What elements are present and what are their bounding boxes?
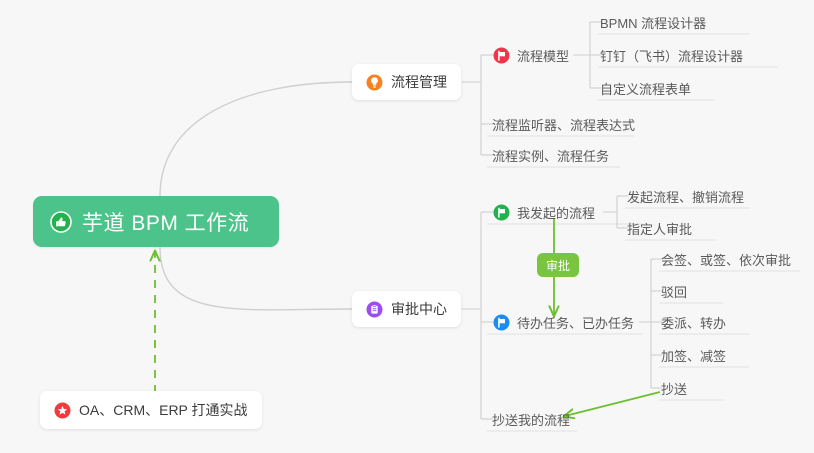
node-start-cancel-process-label: 发起流程、撤销流程 <box>627 187 744 206</box>
root-node[interactable]: 芋道 BPM 工作流 <box>33 196 279 247</box>
note-integration-label: OA、CRM、ERP 打通实战 <box>79 400 248 420</box>
node-cc[interactable]: 抄送 <box>661 379 687 398</box>
node-add-remove-sign[interactable]: 加签、减签 <box>661 346 726 365</box>
node-process-model[interactable]: 流程模型 <box>493 46 569 65</box>
link-ac-spine <box>462 212 481 419</box>
root-label: 芋道 BPM 工作流 <box>82 207 249 237</box>
node-bpmn-designer[interactable]: BPMN 流程设计器 <box>600 13 706 32</box>
node-add-remove-sign-label: 加签、减签 <box>661 346 726 365</box>
node-my-started-process-label: 我发起的流程 <box>517 203 595 222</box>
star-icon <box>54 402 71 419</box>
approval-badge[interactable]: 审批 <box>537 253 579 277</box>
approval-badge-label: 审批 <box>546 257 570 274</box>
node-approval-center[interactable]: 审批中心 <box>352 291 461 327</box>
node-process-management[interactable]: 流程管理 <box>352 64 461 100</box>
link-todo-spine <box>639 259 651 388</box>
node-assignee-approval-label: 指定人审批 <box>627 219 692 238</box>
node-todo-done-tasks[interactable]: 待办任务、已办任务 <box>493 313 634 332</box>
node-cc-to-me-label: 抄送我的流程 <box>492 410 570 429</box>
flag-green-icon <box>493 204 510 221</box>
node-delegate-transfer[interactable]: 委派、转办 <box>661 313 726 332</box>
note-integration[interactable]: OA、CRM、ERP 打通实战 <box>40 391 262 429</box>
link-model-spine <box>573 22 590 88</box>
node-instance-task[interactable]: 流程实例、流程任务 <box>492 146 609 165</box>
node-start-cancel-process[interactable]: 发起流程、撤销流程 <box>627 187 744 206</box>
node-approval-center-label: 审批中心 <box>391 299 447 319</box>
node-bpmn-designer-label: BPMN 流程设计器 <box>600 13 706 32</box>
flag-red-icon <box>493 47 510 64</box>
node-cc-to-me[interactable]: 抄送我的流程 <box>492 410 570 429</box>
thumbs-up-icon <box>50 211 72 233</box>
link-started-spine <box>603 196 617 228</box>
node-listener-expression[interactable]: 流程监听器、流程表达式 <box>492 115 635 134</box>
link-root-to-approval-center <box>160 247 352 310</box>
link-root-to-process-management <box>160 82 352 196</box>
node-process-model-label: 流程模型 <box>517 46 569 65</box>
node-my-started-process[interactable]: 我发起的流程 <box>493 203 595 222</box>
node-instance-task-label: 流程实例、流程任务 <box>492 146 609 165</box>
link-pm-spine <box>462 55 481 155</box>
node-cc-label: 抄送 <box>661 379 687 398</box>
node-countersign[interactable]: 会签、或签、依次审批 <box>661 250 791 269</box>
arrow-cc-to-me <box>565 392 660 416</box>
node-custom-form[interactable]: 自定义流程表单 <box>600 79 691 98</box>
clipboard-icon <box>366 301 383 318</box>
node-countersign-label: 会签、或签、依次审批 <box>661 250 791 269</box>
node-delegate-transfer-label: 委派、转办 <box>661 313 726 332</box>
node-dingtalk-designer-label: 钉钉（飞书）流程设计器 <box>600 46 743 65</box>
node-custom-form-label: 自定义流程表单 <box>600 79 691 98</box>
flag-blue-icon <box>493 314 510 331</box>
mindmap-canvas: 芋道 BPM 工作流 流程管理 流程模型 BPMN 流程设计器 钉钉（飞书）流程 <box>0 0 814 453</box>
node-process-management-label: 流程管理 <box>391 72 447 92</box>
node-dingtalk-designer[interactable]: 钉钉（飞书）流程设计器 <box>600 46 743 65</box>
node-reject-label: 驳回 <box>661 282 687 301</box>
node-listener-expression-label: 流程监听器、流程表达式 <box>492 115 635 134</box>
node-todo-done-tasks-label: 待办任务、已办任务 <box>517 313 634 332</box>
node-reject[interactable]: 驳回 <box>661 282 687 301</box>
node-assignee-approval[interactable]: 指定人审批 <box>627 219 692 238</box>
lightbulb-icon <box>366 74 383 91</box>
